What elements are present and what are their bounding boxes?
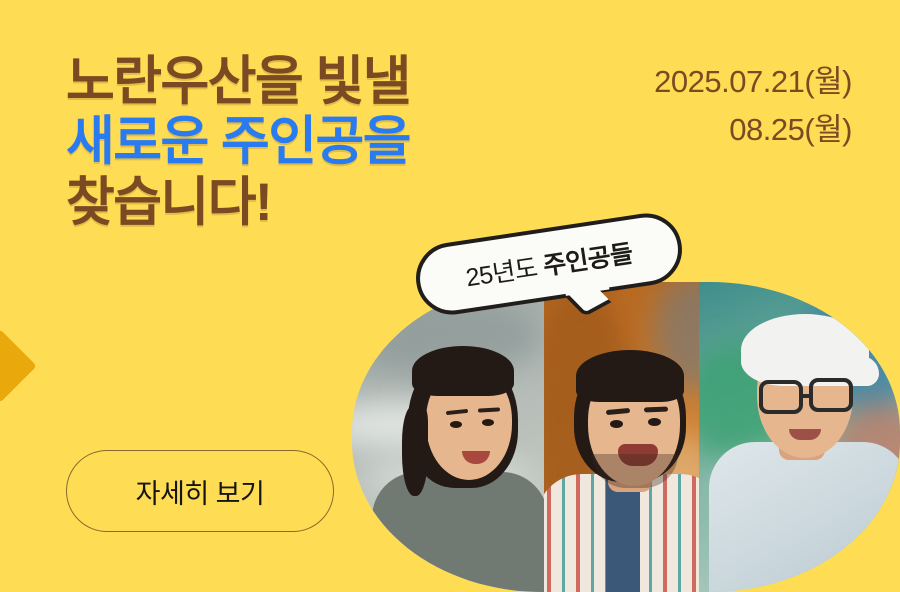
headline-line-1: 노란우산을 빛낼 — [66, 52, 410, 112]
bubble-label-heroes: 주인공들 — [541, 240, 634, 281]
photo-panel-young-man — [544, 282, 699, 592]
period-end-date: 08.25(월) — [654, 106, 852, 154]
photo-panel-woman — [352, 282, 544, 592]
bubble-label-year: 25년도 — [464, 254, 539, 292]
headline-line-3: 찾습니다! — [66, 173, 410, 233]
view-details-button[interactable]: 자세히 보기 — [66, 450, 334, 532]
application-period: 2025.07.21(월) 08.25(월) — [654, 58, 852, 154]
photo-panel-senior-man — [699, 282, 900, 592]
headline-line-2: 새로운 주인공을 — [66, 112, 410, 172]
senior-man-figure — [717, 306, 897, 592]
promo-banner: 노란우산을 빛낼 새로운 주인공을 찾습니다! 2025.07.21(월) 08… — [0, 0, 900, 592]
young-man-figure — [552, 324, 699, 592]
speech-bubble-text: 25년도 주인공들 — [463, 234, 635, 294]
photo-collage — [352, 282, 900, 592]
period-start-date: 2025.07.21(월) — [654, 58, 852, 106]
left-arrow-icon[interactable] — [0, 329, 37, 403]
woman-figure — [378, 342, 544, 592]
page-title: 노란우산을 빛낼 새로운 주인공을 찾습니다! — [66, 52, 410, 233]
